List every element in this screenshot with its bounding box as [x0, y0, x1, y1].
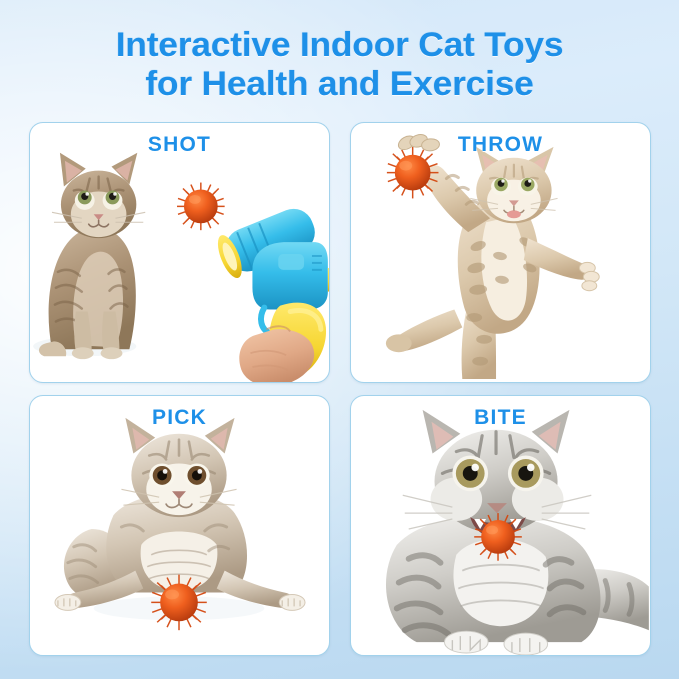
cat-paw-grabbing-ball: [396, 132, 440, 152]
scene-bite: [351, 396, 650, 655]
sitting-tabby-kitten: [33, 153, 145, 359]
lying-cat: [386, 410, 649, 655]
product-infographic-poster: Interactive Indoor Cat Toys for Health a…: [0, 0, 679, 679]
panel-pick[interactable]: PICK: [29, 395, 330, 656]
page-title: Interactive Indoor Cat Toys for Health a…: [0, 26, 679, 105]
panel-shot[interactable]: SHOT: [29, 122, 330, 383]
panel-throw[interactable]: THROW: [350, 122, 651, 383]
scene-pick: [30, 396, 329, 655]
title-line-2: for Health and Exercise: [0, 65, 679, 104]
title-line-1: Interactive Indoor Cat Toys: [0, 26, 679, 65]
panel-bite[interactable]: BITE: [350, 395, 651, 656]
orange-spiky-ball: [387, 147, 439, 199]
orange-spiky-ball: [474, 513, 522, 561]
orange-spiky-ball: [177, 183, 225, 231]
scene-shot: [30, 123, 329, 382]
scene-throw: [351, 123, 650, 382]
feature-panel-grid: SHOT: [29, 122, 651, 656]
